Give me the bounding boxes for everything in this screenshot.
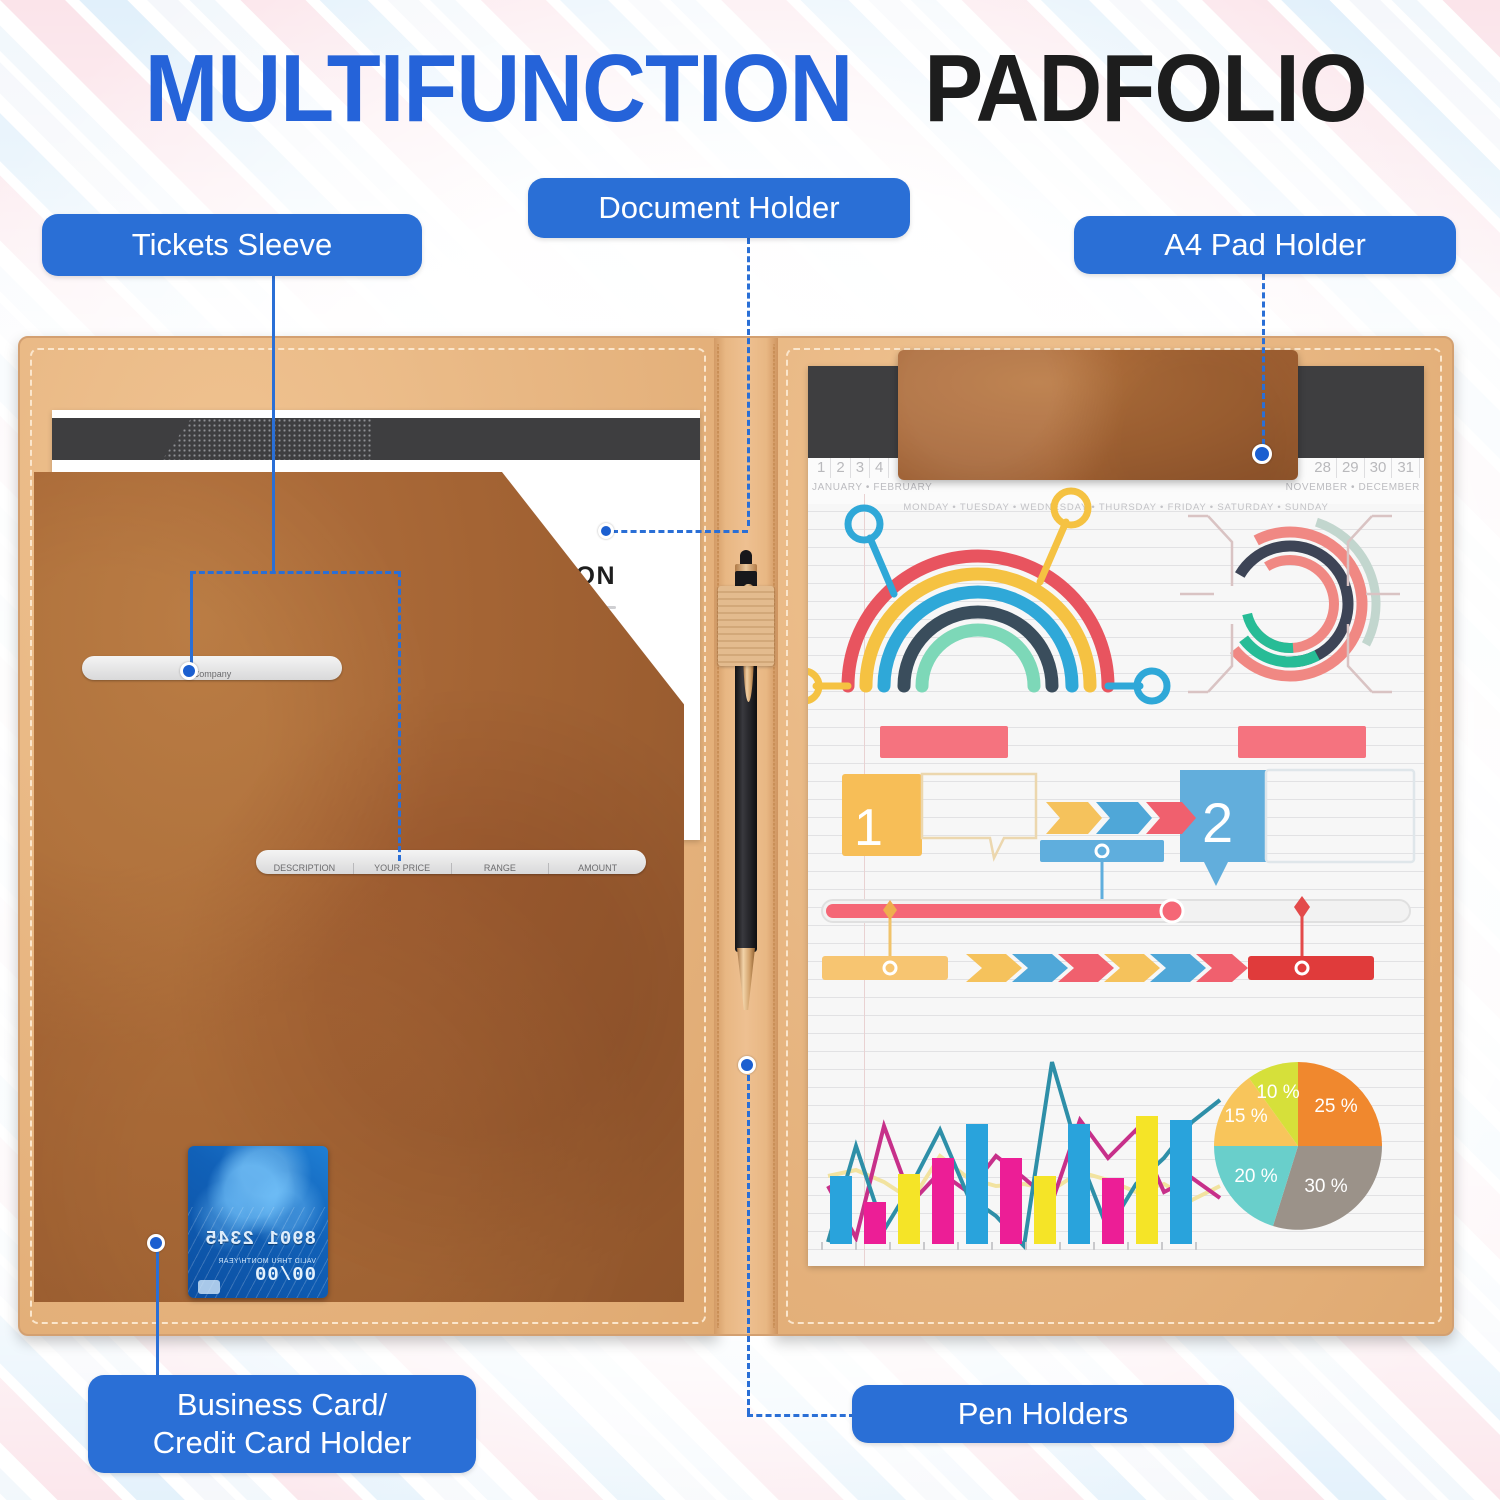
pie-label-15: 15 %: [1224, 1106, 1267, 1127]
field-label-company: Company: [82, 669, 342, 680]
leader-pen-vertical: [747, 1066, 750, 1414]
calendar-days-right: 28 29 30 31: [1309, 458, 1420, 478]
leader-tickets-left: [190, 571, 193, 675]
calendar-day: 1: [812, 458, 831, 478]
leather-texture: [34, 472, 684, 1302]
callout-tickets-sleeve[interactable]: Tickets Sleeve: [42, 214, 422, 276]
pen-tip-cone: [737, 948, 755, 1010]
progress-knob: [1161, 900, 1183, 922]
line-series-magenta: [828, 1120, 1220, 1238]
bar: [1068, 1124, 1090, 1244]
pie-label-25: 25 %: [1314, 1096, 1357, 1117]
a4-pad-retainer-strap[interactable]: [898, 350, 1298, 480]
padfolio-spine: [714, 336, 778, 1336]
leader-tickets-vertical: [272, 276, 275, 571]
bar: [1000, 1158, 1022, 1244]
leader-tickets-top: [190, 571, 400, 574]
bar: [1136, 1116, 1158, 1244]
calendar-day: 30: [1365, 458, 1393, 478]
calendar-day: 28: [1309, 458, 1337, 478]
pen-holder-loop[interactable]: [718, 586, 774, 666]
callout-number-2: 2: [1202, 790, 1233, 855]
title-word-1: MULTIFUNCTION: [145, 41, 853, 137]
credit-card[interactable]: 8901 2345 VALID THRU MONTH/YEAR 00/00: [188, 1146, 328, 1298]
leader-pen-horizontal: [747, 1414, 855, 1417]
bar: [1034, 1176, 1056, 1244]
table-col-amount: AMOUNT: [549, 863, 646, 874]
tickets-sleeve-pocket[interactable]: [34, 472, 684, 1302]
notepad-infographic: 25 % 30 % 20 % 15 % 10 %: [808, 486, 1424, 1266]
callout-label: Pen Holders: [958, 1395, 1129, 1433]
document-header-band: [52, 418, 700, 460]
pie-label-20: 20 %: [1234, 1166, 1277, 1187]
padfolio-right-panel: 1 2 3 4 28 29 30 31 JANUARY • FEBRUARY N…: [774, 336, 1454, 1336]
callout-document-holder[interactable]: Document Holder: [528, 178, 910, 238]
callout-label-red-1: [880, 726, 1008, 758]
anchor-dot-card: [147, 1234, 165, 1252]
page-title: MULTIFUNCTION PADFOLIO: [0, 34, 1500, 144]
bar: [966, 1124, 988, 1244]
calendar-day: 2: [831, 458, 850, 478]
bar: [932, 1158, 954, 1244]
callout-business-card-holder[interactable]: Business Card/ Credit Card Holder: [88, 1375, 476, 1473]
table-col-description: DESCRIPTION: [256, 863, 354, 874]
callout-label-line1: Business Card/: [177, 1386, 387, 1424]
callout-label-line2: Credit Card Holder: [153, 1424, 411, 1462]
arc-diagram: [808, 491, 1167, 701]
title-word-2: PADFOLIO: [924, 41, 1366, 137]
donut-ring-chart: [1180, 496, 1400, 713]
calendar-day: 31: [1392, 458, 1420, 478]
spine-stitch-right: [773, 344, 775, 1328]
callout-number-1: 1: [854, 798, 883, 858]
pie-label-10: 10 %: [1256, 1082, 1299, 1103]
callout-label: A4 Pad Holder: [1164, 226, 1366, 264]
bar: [830, 1176, 852, 1244]
callout-label: Document Holder: [598, 189, 839, 227]
card-expiry-value: 00/00: [254, 1264, 316, 1286]
bar: [1102, 1178, 1124, 1244]
calendar-day: 4: [870, 458, 889, 478]
bar-red: [1248, 956, 1374, 980]
anchor-dot-document: [598, 523, 614, 539]
bar-chart: [822, 1116, 1196, 1250]
padfolio-left-panel: YOUR COMPANY QUOTATION Company DESCRIPTI…: [18, 336, 718, 1336]
card-number: 8901 2345: [204, 1228, 316, 1250]
table-col-range: RANGE: [452, 863, 550, 874]
leader-document-vertical: [747, 238, 750, 526]
leader-tickets-right: [398, 571, 401, 861]
calendar-day: 29: [1337, 458, 1365, 478]
progress-fill: [826, 904, 1168, 918]
document-dot-pattern: [162, 418, 372, 460]
leader-card-vertical: [156, 1242, 159, 1375]
callout-a4-pad-holder[interactable]: A4 Pad Holder: [1074, 216, 1456, 274]
padfolio-product: YOUR COMPANY QUOTATION Company DESCRIPTI…: [18, 336, 1454, 1336]
chevron-row-bottom: [966, 954, 1248, 982]
document-table-header-edge: DESCRIPTION YOUR PRICE RANGE AMOUNT: [256, 850, 646, 874]
line-series-teal: [828, 1062, 1220, 1246]
chevron-row-top: [1046, 802, 1196, 834]
callout-label-red-2: [1238, 726, 1366, 758]
table-col-your-price: YOUR PRICE: [354, 863, 452, 874]
pie-label-30: 30 %: [1304, 1176, 1347, 1197]
pie-chart: 25 % 30 % 20 % 15 % 10 %: [1214, 1062, 1382, 1230]
callout-label: Tickets Sleeve: [132, 226, 332, 264]
anchor-dot-tickets: [180, 662, 198, 680]
leader-a4-vertical: [1262, 274, 1265, 454]
bar: [898, 1174, 920, 1244]
callout-section: [822, 726, 1414, 982]
card-chip-icon: [198, 1280, 220, 1294]
calendar-day: 3: [851, 458, 870, 478]
document-field-edge-top: Company: [82, 656, 342, 680]
anchor-dot-a4: [1252, 444, 1272, 464]
calendar-days-left: 1 2 3 4: [812, 458, 889, 478]
a4-notepad: 1 2 3 4 28 29 30 31 JANUARY • FEBRUARY N…: [808, 366, 1424, 1266]
bar: [864, 1202, 886, 1244]
leader-document-horizontal: [612, 530, 748, 533]
anchor-dot-pen: [738, 1056, 756, 1074]
line-chart: [828, 1062, 1220, 1246]
callout-pen-holders[interactable]: Pen Holders: [852, 1385, 1234, 1443]
bar: [1170, 1120, 1192, 1244]
spine-stitch-left: [717, 344, 719, 1328]
